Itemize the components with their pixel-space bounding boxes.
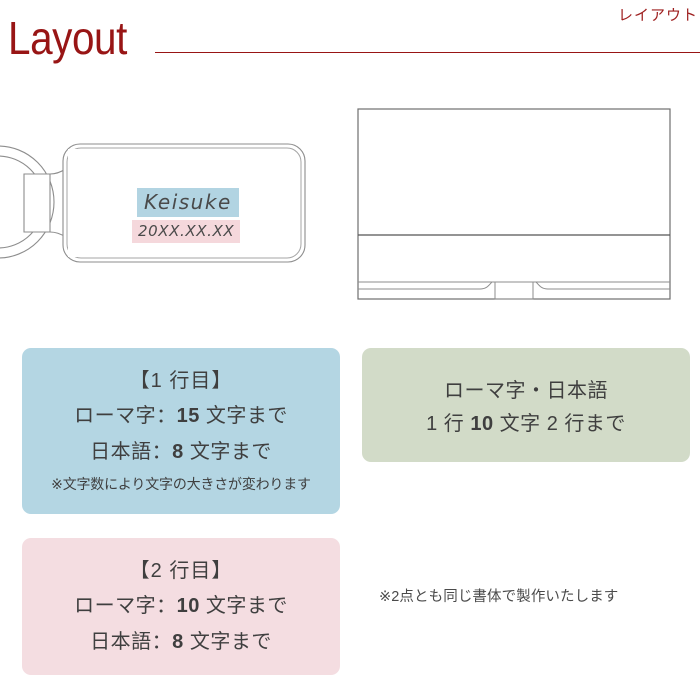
panel-card-case-line2-suffix: 文字 2 行まで xyxy=(494,413,626,435)
tag-engraving-line2: 20XX.XX.XX xyxy=(132,220,240,243)
panel-line1-romaji-count: 15 xyxy=(177,405,200,427)
page-title: Layout xyxy=(8,12,127,64)
footnote-same-typeface: ※2点とも同じ書体で製作いたします xyxy=(379,586,679,608)
panel-line1-japanese-count: 8 xyxy=(172,441,184,463)
panel-line2-spec: 【2 行目】 ローマ字：10 文字まで 日本語：8 文字まで xyxy=(22,538,340,675)
panel-line1-romaji: ローマ字：15 文字まで xyxy=(22,398,340,434)
panel-line2-japanese-count: 8 xyxy=(172,631,184,653)
panel-line2-heading: 【2 行目】 xyxy=(22,554,340,588)
tag-body-fill-patch xyxy=(68,149,108,257)
panel-line2-romaji: ローマ字：10 文字まで xyxy=(22,588,340,624)
header-subtitle: レイアウト xyxy=(618,6,698,26)
key-connector-shank xyxy=(24,174,50,232)
card-case-drawing xyxy=(355,92,700,327)
tag-engraving-line1: Keisuke xyxy=(137,188,239,217)
panel-line1-japanese-prefix: 日本語： xyxy=(90,441,172,463)
panel-line1-japanese-suffix: 文字まで xyxy=(184,441,272,463)
card-case-body-outline xyxy=(358,109,670,299)
panel-line1-note: ※文字数により文字の大きさが変わります xyxy=(22,472,340,496)
illustration-area: Keisuke 20XX.XX.XX K.Watanabe xyxy=(0,92,700,327)
panel-line2-japanese: 日本語：8 文字まで xyxy=(22,624,340,660)
panel-line2-romaji-prefix: ローマ字： xyxy=(74,595,177,617)
panel-line1-heading: 【1 行目】 xyxy=(22,364,340,398)
panel-line2-japanese-prefix: 日本語： xyxy=(90,631,172,653)
keychain-tag-illustration: Keisuke 20XX.XX.XX xyxy=(0,92,340,327)
panel-card-case-line2-count: 10 xyxy=(470,413,493,435)
panel-card-case-line1: ローマ字・日本語 xyxy=(362,375,690,408)
panel-card-case-spec: ローマ字・日本語 1 行 10 文字 2 行まで xyxy=(362,348,690,462)
header-divider-line xyxy=(155,52,700,53)
panel-line1-romaji-prefix: ローマ字： xyxy=(74,405,177,427)
panel-line1-spec: 【1 行目】 ローマ字：15 文字まで 日本語：8 文字まで ※文字数により文字… xyxy=(22,348,340,514)
panel-line2-romaji-count: 10 xyxy=(177,595,200,617)
panel-line1-romaji-suffix: 文字まで xyxy=(200,405,288,427)
panel-card-case-line2-prefix: 1 行 xyxy=(426,413,470,435)
panel-line1-japanese: 日本語：8 文字まで xyxy=(22,434,340,470)
page-header: Layout レイアウト xyxy=(0,0,700,92)
panel-card-case-line2: 1 行 10 文字 2 行まで xyxy=(362,408,690,441)
panel-line2-romaji-suffix: 文字まで xyxy=(200,595,288,617)
panel-line2-japanese-suffix: 文字まで xyxy=(184,631,272,653)
card-case-illustration: K.Watanabe xyxy=(355,92,700,327)
